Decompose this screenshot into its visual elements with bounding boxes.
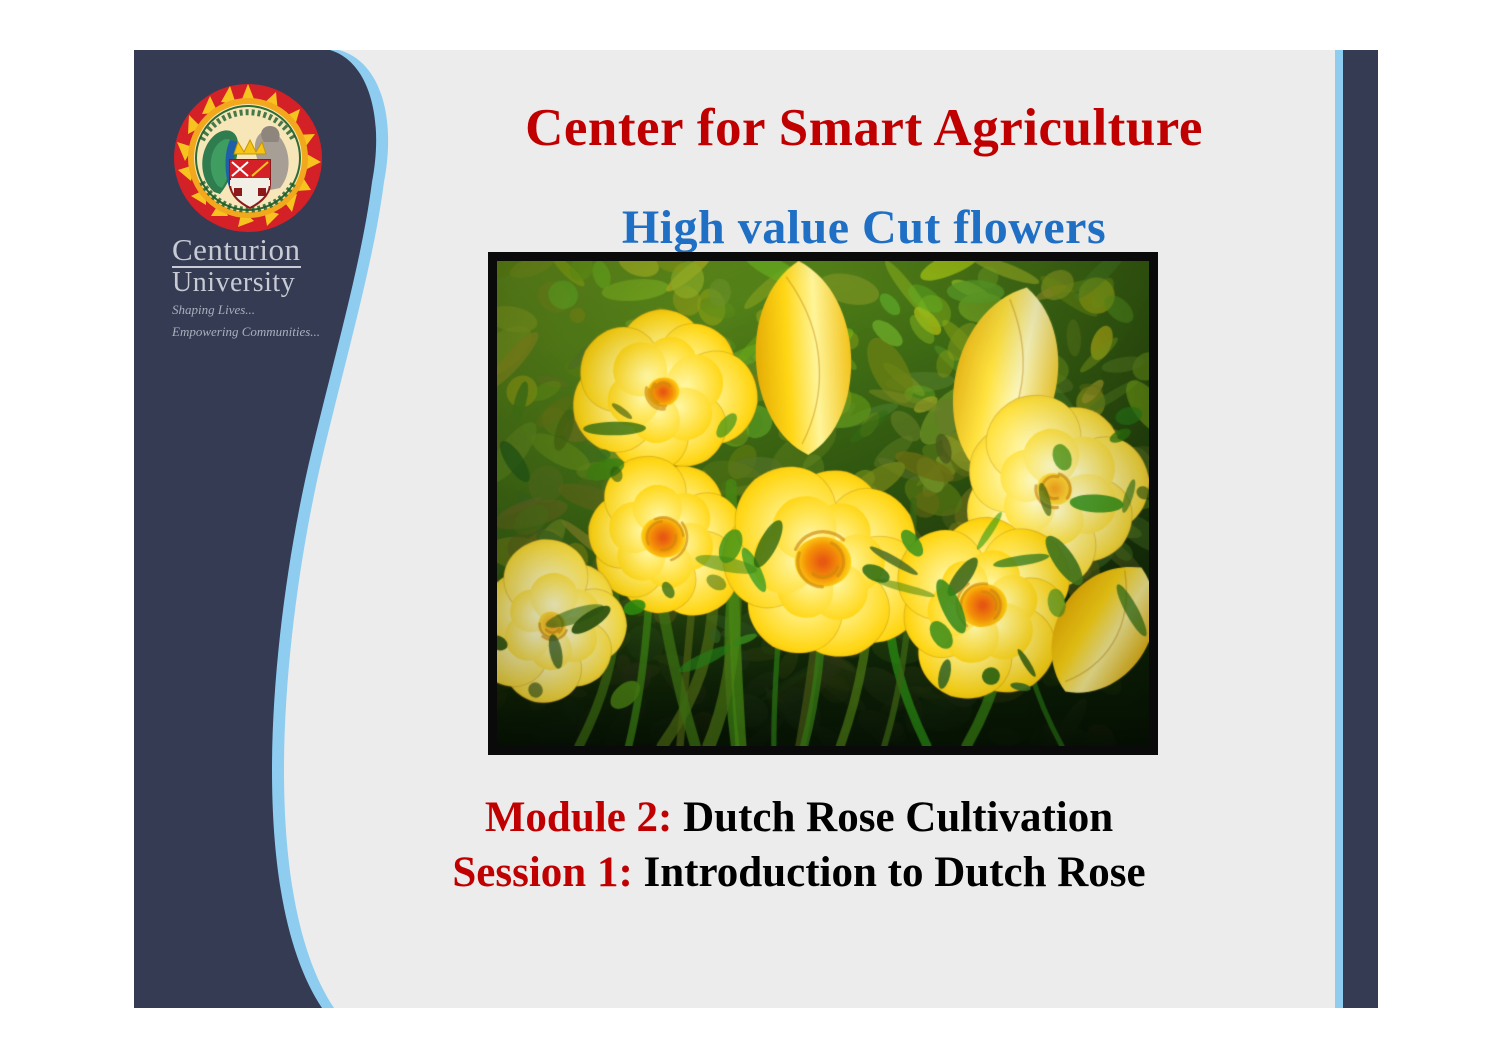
- presentation-slide: Centurion University Shaping Lives... Em…: [134, 50, 1378, 1008]
- module-label: Module 2:: [485, 794, 673, 841]
- slide-subtitle: High value Cut flowers: [364, 200, 1364, 255]
- university-logo-block: Centurion University Shaping Lives... Em…: [164, 82, 354, 340]
- crest-sunburst-ring: [174, 84, 322, 232]
- logo-name-line-2: University: [172, 268, 354, 297]
- right-navy-stripe: [1343, 50, 1378, 1008]
- slide-title: Center for Smart Agriculture: [364, 98, 1364, 158]
- caption-line-session: Session 1: Introduction to Dutch Rose: [294, 845, 1304, 900]
- caption-line-module: Module 2: Dutch Rose Cultivation: [294, 790, 1304, 845]
- yellow-roses-photo: [488, 252, 1158, 755]
- slide-caption: Module 2: Dutch Rose Cultivation Session…: [294, 790, 1304, 900]
- module-text: Dutch Rose Cultivation: [672, 794, 1113, 841]
- session-label: Session 1:: [452, 849, 632, 896]
- centurion-university-crest-icon: [172, 82, 324, 234]
- session-text: Introduction to Dutch Rose: [633, 849, 1146, 896]
- yellow-roses-photo-canvas: [497, 261, 1149, 746]
- logo-name-line-1: Centurion: [172, 234, 301, 268]
- logo-tagline-line-1: Shaping Lives...: [172, 301, 354, 319]
- logo-tagline-line-2: Empowering Communities...: [172, 323, 354, 341]
- right-accent-stripe: [1335, 50, 1343, 1008]
